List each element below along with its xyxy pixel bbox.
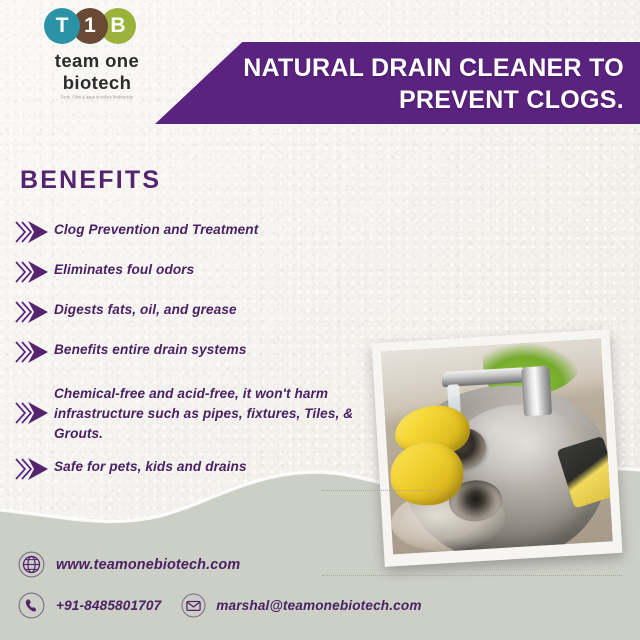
benefit-item: Safe for pets, kids and drains xyxy=(14,455,394,482)
envelope-icon xyxy=(181,593,206,618)
double-chevron-arrow-icon xyxy=(14,456,54,482)
poster-canvas: T 1 B team one biotech Ferts. Fibre & aq… xyxy=(0,0,640,640)
logo-company-name: team one biotech xyxy=(22,50,172,94)
contact-phone-email-row: +91-8485801707 marshal@teamonebiotech.co… xyxy=(18,592,438,619)
sink-drain-cleaning-photo xyxy=(381,339,613,555)
double-chevron-arrow-icon xyxy=(14,259,54,285)
header-title: NATURAL DRAIN CLEANER TO PREVENT CLOGS. xyxy=(204,52,624,117)
logo-monogram: T 1 B xyxy=(44,8,172,46)
double-chevron-arrow-icon xyxy=(14,299,54,325)
benefit-item: Eliminates foul odors xyxy=(14,258,394,285)
benefit-text: Digests fats, oil, and grease xyxy=(54,298,237,320)
company-logo: T 1 B team one biotech Ferts. Fibre & aq… xyxy=(22,8,172,99)
benefits-list: Clog Prevention and Treatment Eliminates… xyxy=(14,218,394,495)
footer-contact-block: www.teamonebiotech.com +91-8485801707 ma… xyxy=(18,551,438,619)
website-text[interactable]: www.teamonebiotech.com xyxy=(56,557,240,573)
benefit-text: Benefits entire drain systems xyxy=(54,338,247,360)
double-chevron-arrow-icon xyxy=(14,219,54,245)
benefit-text: Clog Prevention and Treatment xyxy=(54,218,258,240)
benefit-text: Eliminates foul odors xyxy=(54,258,194,280)
phone-icon xyxy=(18,592,45,619)
benefit-item: Clog Prevention and Treatment xyxy=(14,218,394,245)
contact-website-row[interactable]: www.teamonebiotech.com xyxy=(18,551,438,578)
benefit-item: Benefits entire drain systems xyxy=(14,338,394,365)
logo-tagline: Ferts. Fibre & aqua in India's biodivers… xyxy=(22,95,172,100)
double-chevron-arrow-icon xyxy=(14,339,54,365)
dotted-divider-top xyxy=(322,490,438,491)
benefit-item: Chemical-free and acid-free, it won't ha… xyxy=(14,382,394,444)
logo-circle-t: T xyxy=(44,8,80,44)
phone-text[interactable]: +91-8485801707 xyxy=(56,598,161,613)
product-photo-frame xyxy=(372,329,623,567)
globe-icon xyxy=(18,551,45,578)
benefit-text: Chemical-free and acid-free, it won't ha… xyxy=(54,382,384,444)
benefits-heading: BENEFITS xyxy=(20,166,161,195)
email-text[interactable]: marshal@teamonebiotech.com xyxy=(216,598,421,613)
benefit-text: Safe for pets, kids and drains xyxy=(54,455,247,477)
double-chevron-arrow-icon xyxy=(14,400,54,426)
benefit-item: Digests fats, oil, and grease xyxy=(14,298,394,325)
photo-faucet-base xyxy=(521,366,552,416)
